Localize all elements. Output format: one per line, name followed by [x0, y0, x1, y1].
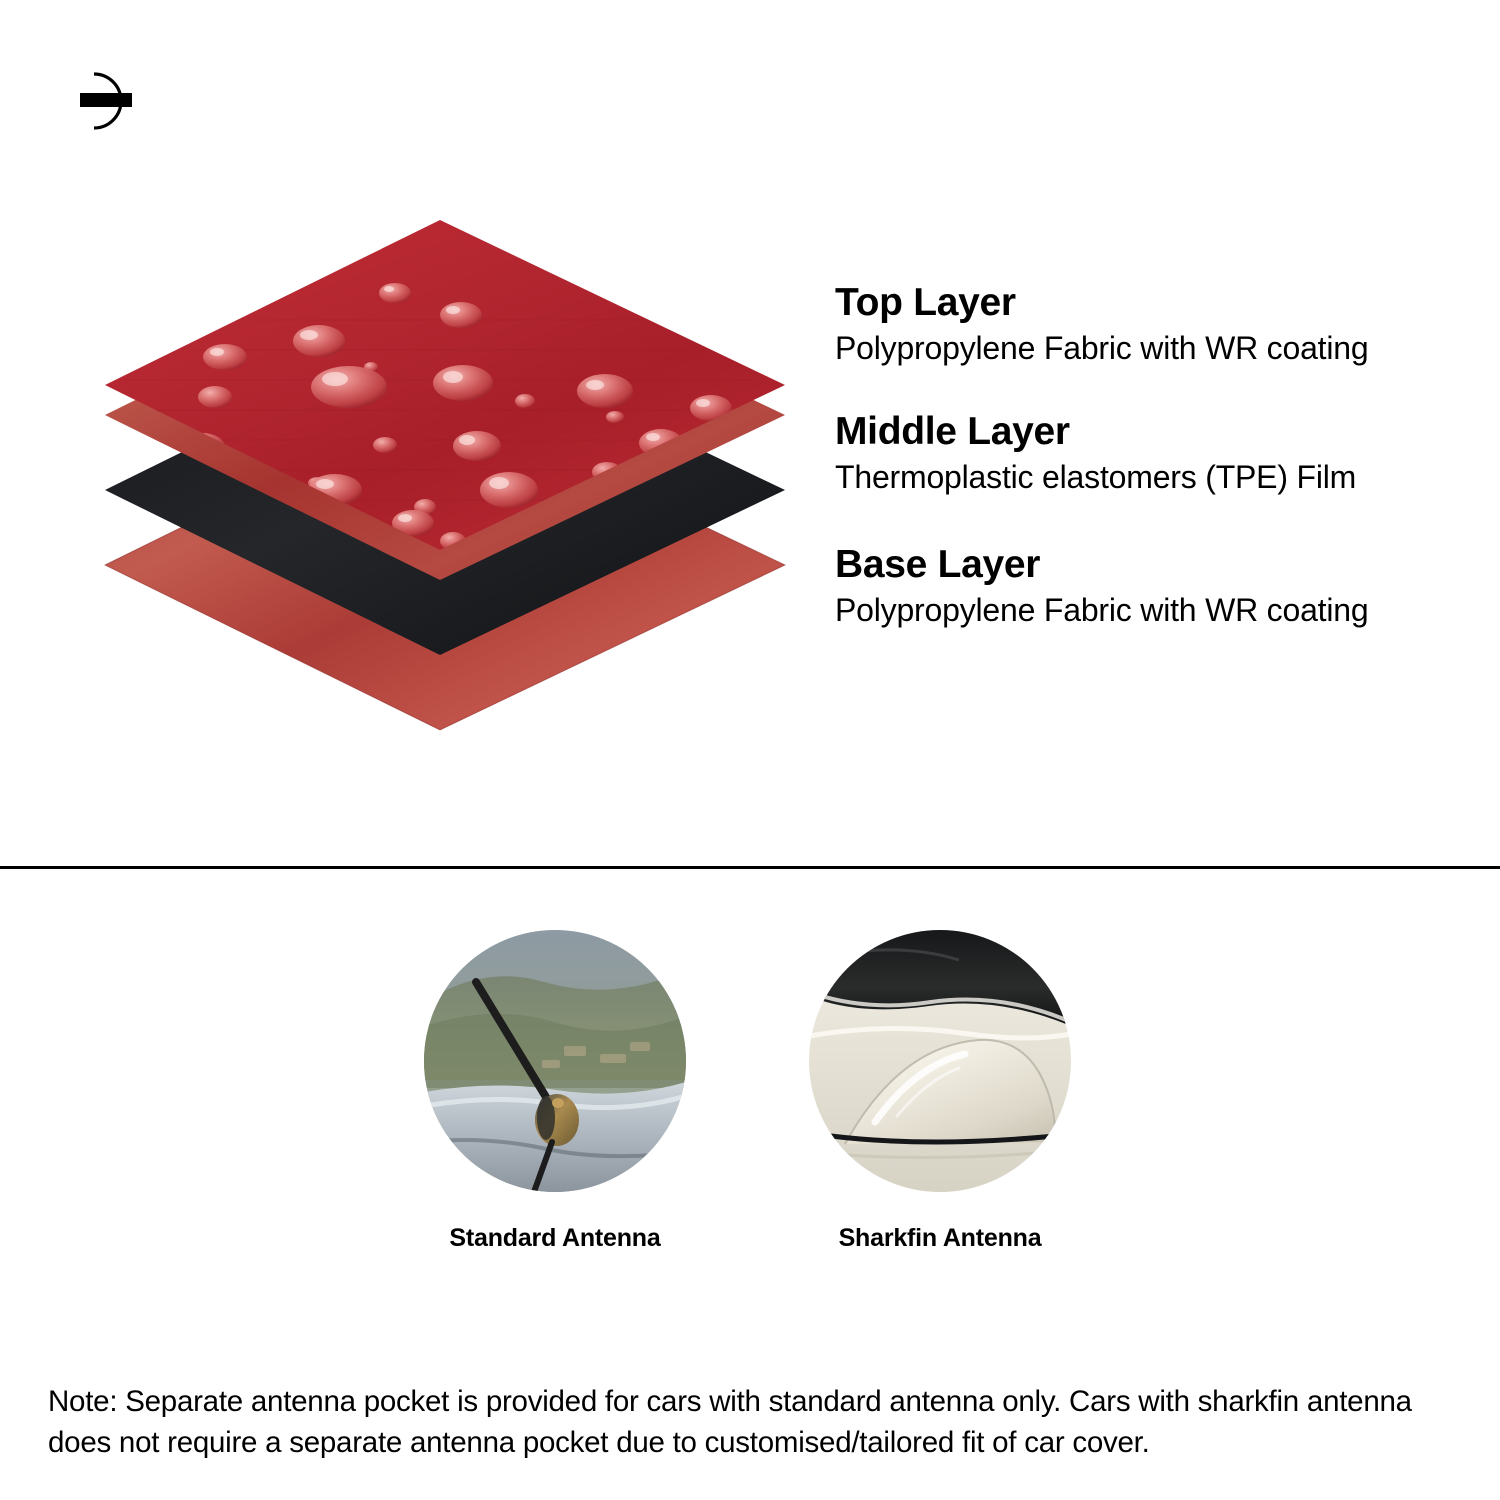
brand-logo-mark: [72, 62, 162, 140]
antenna-pocket-note: Note: Separate antenna pocket is provide…: [48, 1382, 1468, 1463]
layer-title: Middle Layer: [835, 412, 1356, 453]
antenna-caption: Sharkfin Antenna: [790, 1224, 1090, 1253]
antenna-option-standard: Standard Antenna: [405, 930, 705, 1253]
layer-description: Polypropylene Fabric with WR coating: [835, 592, 1368, 629]
fabric-layers-diagram: [95, 205, 805, 755]
antenna-comparison-row: Standard Antenna: [0, 930, 1500, 1320]
layer-info-top: Top Layer Polypropylene Fabric with WR c…: [835, 283, 1368, 367]
layer-description: Thermoplastic elastomers (TPE) Film: [835, 459, 1356, 496]
standard-antenna-photo: [424, 930, 686, 1192]
layer-info-middle: Middle Layer Thermoplastic elastomers (T…: [835, 412, 1356, 496]
layer-info-base: Base Layer Polypropylene Fabric with WR …: [835, 545, 1368, 629]
sharkfin-antenna-photo: [809, 930, 1071, 1192]
infographic-page: Top Layer Polypropylene Fabric with WR c…: [0, 0, 1500, 1500]
antenna-caption: Standard Antenna: [405, 1224, 705, 1253]
layer-title: Top Layer: [835, 283, 1368, 324]
layer-title: Base Layer: [835, 545, 1368, 586]
layer-description: Polypropylene Fabric with WR coating: [835, 330, 1368, 367]
antenna-option-sharkfin: Sharkfin Antenna: [790, 930, 1090, 1253]
section-divider: [0, 866, 1500, 869]
